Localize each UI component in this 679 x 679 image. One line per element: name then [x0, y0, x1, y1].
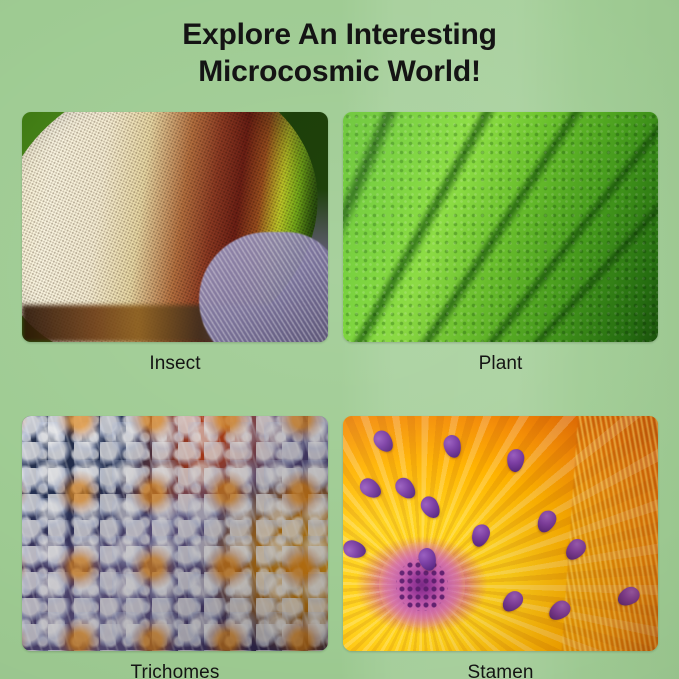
- stamen-shading: [343, 416, 658, 651]
- gallery-item-trichomes[interactable]: Trichomes: [22, 416, 328, 679]
- trichomes-shading: [22, 416, 328, 651]
- caption-plant: Plant: [343, 342, 658, 375]
- gallery-grid: Insect Plant: [22, 112, 658, 679]
- insect-thumbnail[interactable]: [22, 112, 328, 342]
- plant-thumbnail[interactable]: [343, 112, 658, 342]
- title-line-1: Explore An Interesting: [0, 16, 679, 53]
- gallery-item-insect[interactable]: Insect: [22, 112, 328, 375]
- leaf-shading: [343, 112, 658, 342]
- caption-insect: Insect: [22, 342, 328, 375]
- caption-stamen: Stamen: [343, 651, 658, 679]
- poster: Explore An Interesting Microcosmic World…: [0, 0, 679, 679]
- gallery-item-plant[interactable]: Plant: [343, 112, 658, 375]
- trichomes-thumbnail[interactable]: [22, 416, 328, 651]
- caption-trichomes: Trichomes: [22, 651, 328, 679]
- title-line-2: Microcosmic World!: [0, 53, 679, 90]
- stamen-thumbnail[interactable]: [343, 416, 658, 651]
- gallery-item-stamen[interactable]: Stamen: [343, 416, 658, 679]
- page-title: Explore An Interesting Microcosmic World…: [0, 16, 679, 90]
